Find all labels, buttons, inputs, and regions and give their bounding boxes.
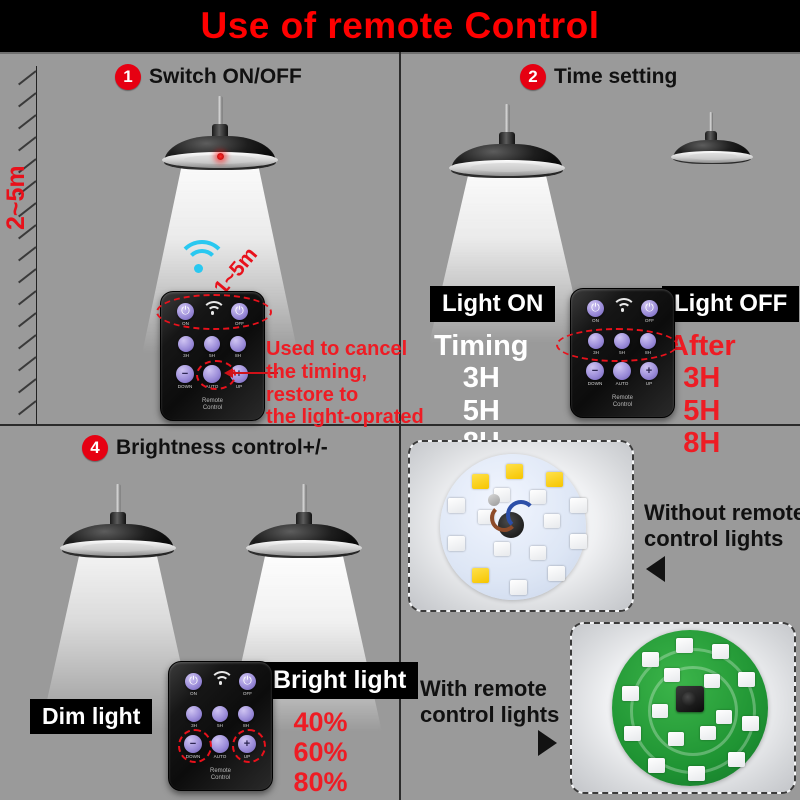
remote-timer-8h-label: 8H [228,353,248,358]
brightness-levels: 40% 60% 80% 100% [286,707,355,800]
remote-power-on-label: ON [182,691,205,696]
callout-text: Used to cancel the timing, restore to th… [266,338,424,429]
wall-line [36,66,37,424]
remote-up-label: UP [637,381,661,386]
remote-down-label: DOWN [172,384,198,389]
remote-timer-3h-button[interactable] [186,706,202,722]
remote-down-button[interactable]: − [586,362,604,380]
remote-timer-8h-button[interactable] [238,706,254,722]
panel-switch-badge: 1 [115,64,141,90]
panel-switch-header: 1 Switch ON/OFF [115,64,302,90]
photo-with-remote [570,622,796,794]
callout-arrow [224,368,233,378]
remote-timer-8h-label: 8H [236,723,256,728]
panel-brightness-title: Brightness control+/- [116,436,328,460]
remote-wifi-icon [612,298,634,311]
remote-power-off-button[interactable]: ⏻ [641,300,658,317]
arrow-right-icon [538,730,557,756]
remote-power-on-button[interactable]: ⏻ [185,673,202,690]
remote-wifi-icon [210,671,232,684]
remote-down-label: DOWN [582,381,608,386]
highlight-timer-row [556,328,678,362]
lamp-dim [38,484,198,674]
remote-auto-button[interactable] [211,735,229,753]
tag-bright-light: Bright light [261,662,418,699]
remote-power-off-label: OFF [236,691,259,696]
remote-timer-5h-label: 5H [210,723,230,728]
remote-brand: Remote Control [571,395,674,409]
wall-distance-label: 2~5m [2,165,31,230]
lamp-off [655,112,767,222]
remote-auto-button[interactable] [613,362,631,380]
wifi-signal-icon [176,240,228,274]
indicator-led [217,153,224,160]
tag-light-off: Light OFF [662,286,799,322]
label-without-remote: Without remote control lights [644,500,800,552]
remote-control-brightness: ⏻ ON ⏻ OFF 3H 5H 8H − DOWN AUTO + UP Rem… [168,661,273,791]
remote-up-button[interactable]: + [640,362,658,380]
tag-dim-light: Dim light [30,699,152,734]
remote-timer-3h-label: 3H [176,353,196,358]
panel-brightness-header: 4 Brightness control+/- [82,435,328,461]
remote-power-off-button[interactable]: ⏻ [239,673,256,690]
lamp-bright [224,484,384,674]
panel-timing-title: Time setting [554,65,677,89]
remote-timer-5h-button[interactable] [212,706,228,722]
title-bar: Use of remote Control [0,0,800,52]
highlight-down-button [178,729,212,763]
remote-timer-8h-button[interactable] [230,336,246,352]
remote-timer-5h-label: 5H [202,353,222,358]
remote-down-button[interactable]: − [176,365,194,383]
tag-light-on: Light ON [430,286,555,322]
panel-brightness-badge: 4 [82,435,108,461]
remote-power-on-button[interactable]: ⏻ [587,300,604,317]
arrow-left-icon [646,556,665,582]
remote-power-off-label: OFF [638,318,661,323]
panel-switch-title: Switch ON/OFF [149,65,302,89]
remote-timer-5h-button[interactable] [204,336,220,352]
timing-off-values: After 3H 5H 8H [668,330,736,460]
remote-timer-3h-button[interactable] [178,336,194,352]
highlight-up-button [232,729,266,763]
panel-timing-badge: 2 [520,64,546,90]
remote-timer-3h-label: 3H [184,723,204,728]
remote-power-on-label: ON [584,318,607,323]
label-with-remote: With remote control lights [420,676,559,728]
photo-without-remote [408,440,634,612]
highlight-power-row [156,294,272,330]
remote-brand: Remote Control [161,398,264,412]
remote-auto-label: AUTO [207,754,233,759]
page-title: Use of remote Control [200,5,599,47]
panel-timing-header: 2 Time setting [520,64,677,90]
lamp-on [427,104,587,294]
remote-auto-label: AUTO [609,381,635,386]
infographic-page: Use of remote Control 1 Switch ON/OFF 2~… [0,0,800,800]
remote-brand: Remote Control [169,768,272,782]
